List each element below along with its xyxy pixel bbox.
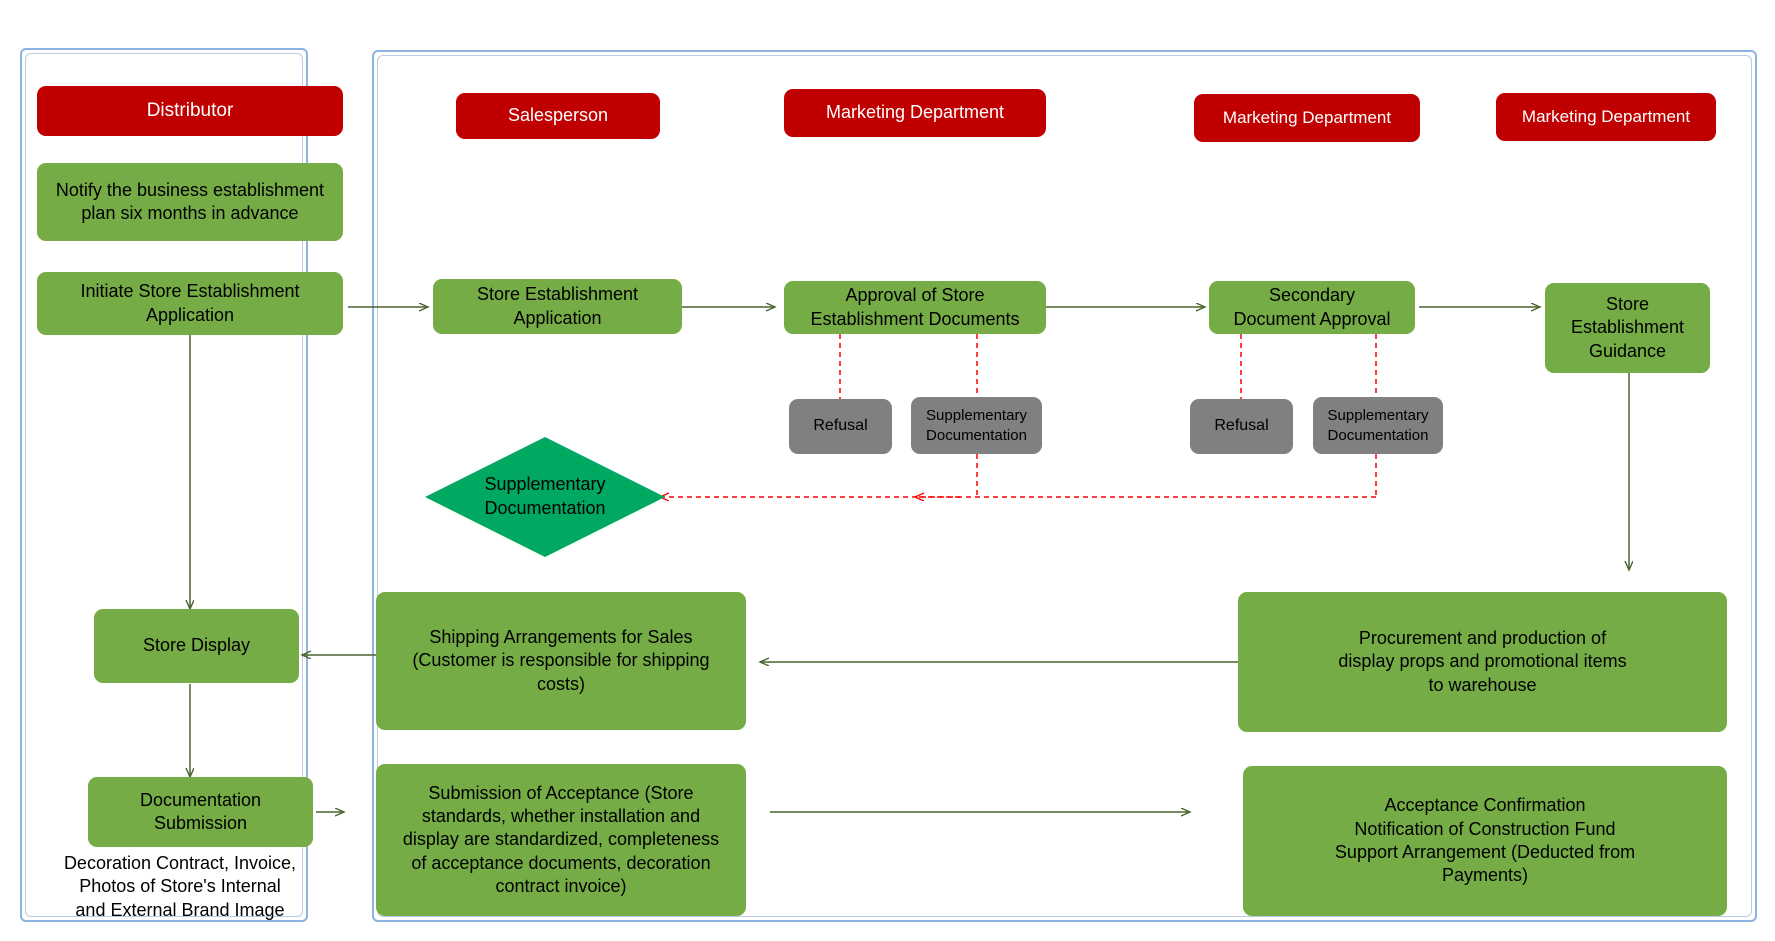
node-notify-plan[interactable]: Notify the business establishment plan s… — [37, 163, 343, 241]
node-initiate-application-label: Initiate Store Establishment Application — [80, 280, 299, 327]
header-marketing-3-label: Marketing Department — [1522, 106, 1690, 128]
node-refusal-2[interactable]: Refusal — [1190, 399, 1293, 454]
node-acceptance-confirmation[interactable]: Acceptance Confirmation Notification of … — [1243, 766, 1727, 916]
distributor-note-label: Decoration Contract, Invoice, Photos of … — [64, 852, 296, 922]
header-salesperson-label: Salesperson — [508, 104, 608, 127]
node-documentation-submission[interactable]: Documentation Submission — [88, 777, 313, 847]
node-procurement-production[interactable]: Procurement and production of display pr… — [1238, 592, 1727, 732]
node-refusal-2-label: Refusal — [1214, 416, 1268, 437]
node-supplementary-documentation-2[interactable]: Supplementary Documentation — [1313, 397, 1443, 454]
node-shipping-arrangements-label: Shipping Arrangements for Sales (Custome… — [412, 626, 709, 696]
node-procurement-production-label: Procurement and production of display pr… — [1338, 627, 1626, 697]
header-marketing-1-label: Marketing Department — [826, 101, 1004, 124]
node-refusal-1[interactable]: Refusal — [789, 399, 892, 454]
node-submission-of-acceptance[interactable]: Submission of Acceptance (Store standard… — [376, 764, 746, 916]
node-store-establishment-application[interactable]: Store Establishment Application — [433, 279, 682, 334]
header-marketing-2[interactable]: Marketing Department — [1194, 94, 1420, 142]
header-marketing-1[interactable]: Marketing Department — [784, 89, 1046, 137]
header-distributor[interactable]: Distributor — [37, 86, 343, 136]
distributor-note: Decoration Contract, Invoice, Photos of … — [30, 850, 330, 920]
node-supplementary-documentation-2-label: Supplementary Documentation — [1328, 406, 1429, 445]
node-store-establishment-guidance[interactable]: Store Establishment Guidance — [1545, 283, 1710, 373]
header-marketing-2-label: Marketing Department — [1223, 107, 1391, 129]
node-store-establishment-application-label: Store Establishment Application — [477, 283, 638, 330]
decision-supplementary-documentation-label: Supplementary Documentation — [484, 473, 605, 521]
flowchart-canvas: Distributor Notify the business establis… — [0, 0, 1775, 941]
node-approval-of-store-docs[interactable]: Approval of Store Establishment Document… — [784, 281, 1046, 334]
node-submission-of-acceptance-label: Submission of Acceptance (Store standard… — [403, 782, 719, 899]
node-documentation-submission-label: Documentation Submission — [140, 789, 261, 836]
node-notify-plan-label: Notify the business establishment plan s… — [56, 179, 324, 226]
header-salesperson[interactable]: Salesperson — [456, 93, 660, 139]
decision-supplementary-documentation[interactable]: Supplementary Documentation — [425, 437, 665, 557]
node-approval-of-store-docs-label: Approval of Store Establishment Document… — [810, 284, 1019, 331]
node-secondary-document-approval-label: Secondary Document Approval — [1233, 284, 1390, 331]
node-supplementary-documentation-1-label: Supplementary Documentation — [926, 406, 1027, 445]
node-store-display-label: Store Display — [143, 634, 250, 657]
node-store-display[interactable]: Store Display — [94, 609, 299, 683]
node-initiate-application[interactable]: Initiate Store Establishment Application — [37, 272, 343, 335]
node-store-establishment-guidance-label: Store Establishment Guidance — [1571, 293, 1684, 363]
node-refusal-1-label: Refusal — [813, 416, 867, 437]
node-supplementary-documentation-1[interactable]: Supplementary Documentation — [911, 397, 1042, 454]
node-secondary-document-approval[interactable]: Secondary Document Approval — [1209, 281, 1415, 334]
node-shipping-arrangements[interactable]: Shipping Arrangements for Sales (Custome… — [376, 592, 746, 730]
header-distributor-label: Distributor — [147, 99, 234, 124]
node-acceptance-confirmation-label: Acceptance Confirmation Notification of … — [1335, 794, 1635, 888]
header-marketing-3[interactable]: Marketing Department — [1496, 93, 1716, 141]
